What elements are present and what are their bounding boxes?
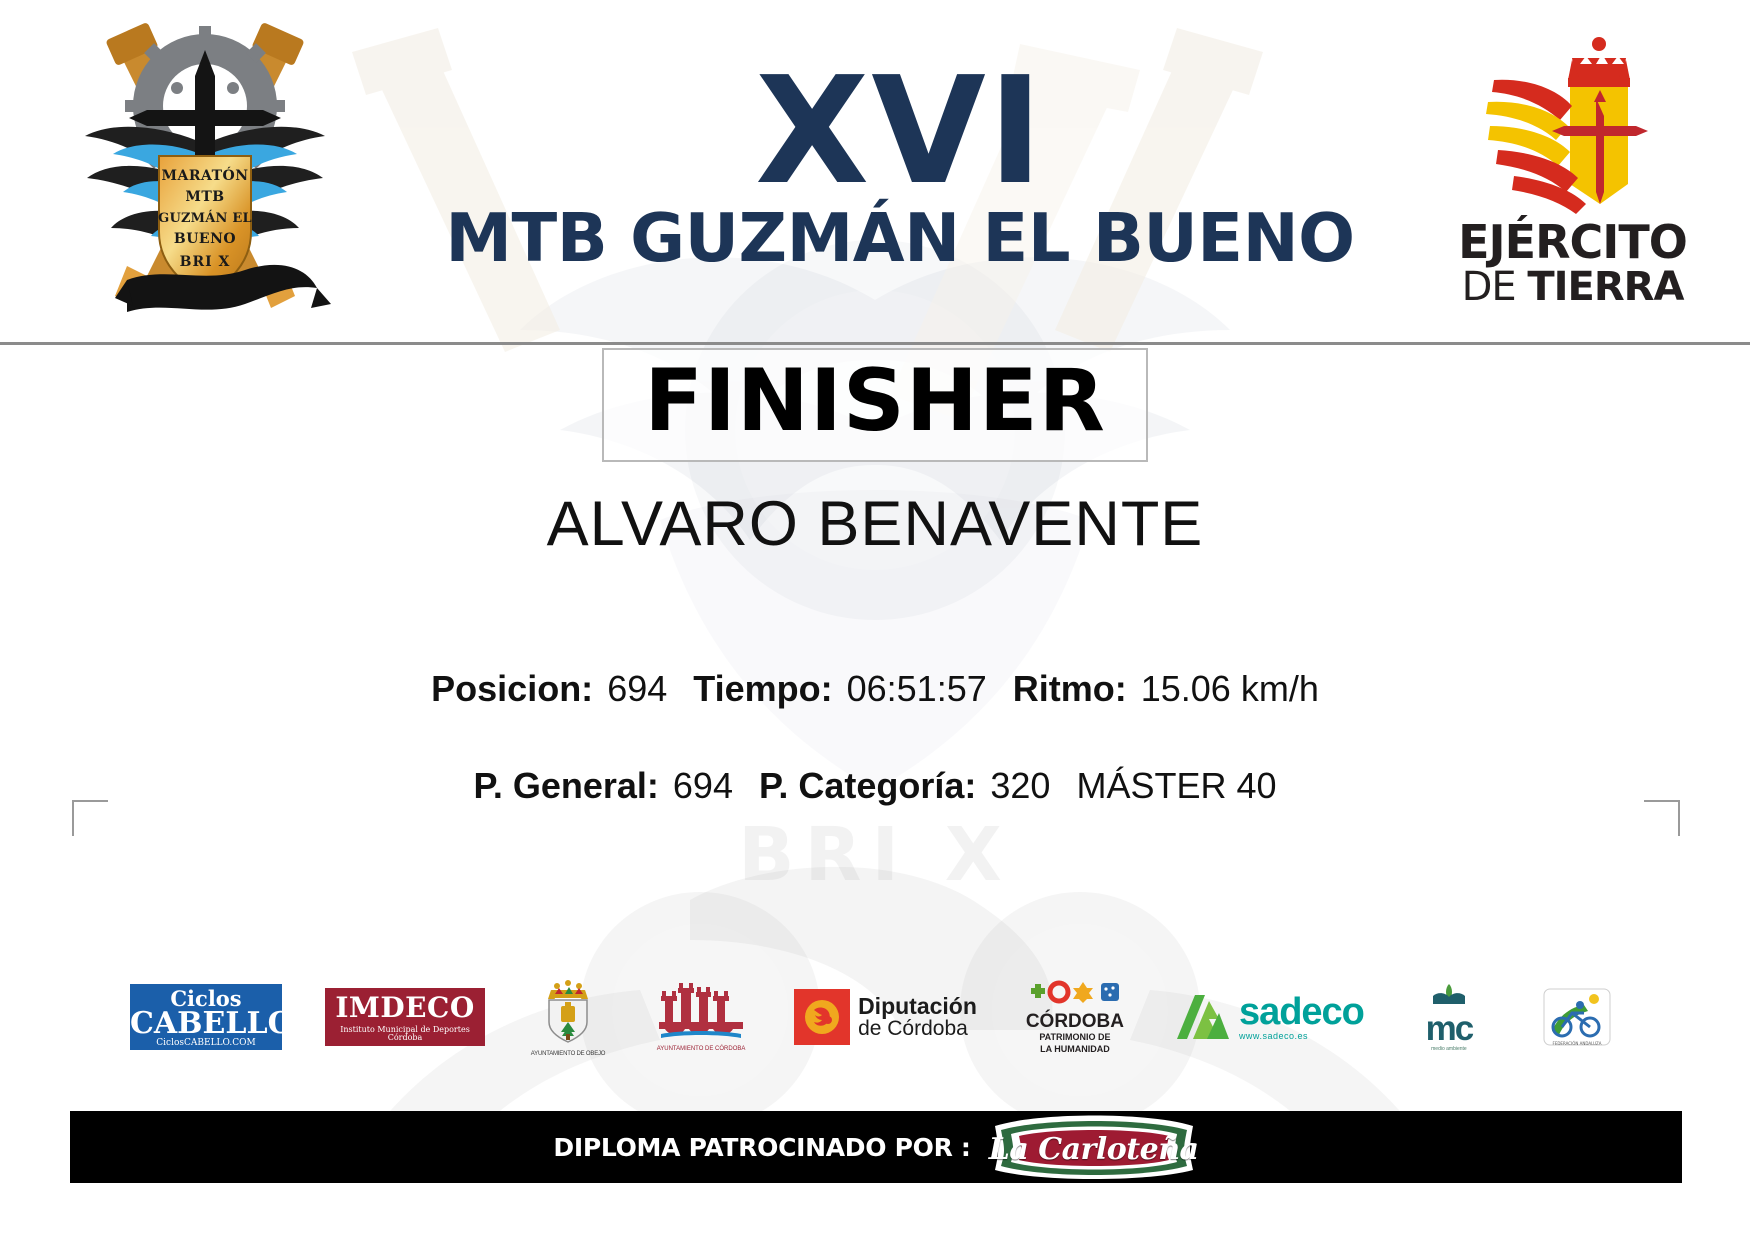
stat-value-tiempo: 06:51:57: [847, 668, 987, 709]
sponsor-mc: mc medio ambiente: [1407, 982, 1491, 1053]
cordoba-bridge-icon: [655, 982, 747, 1040]
event-edition: XVI: [355, 60, 1445, 202]
ayto-local-caption: AYUNTAMIENTO DE OBEJO: [531, 1051, 605, 1057]
diputacion-badge-icon: [794, 989, 850, 1045]
finisher-label: FINISHER: [644, 356, 1106, 446]
crop-mark-top-left: [72, 800, 108, 836]
footer-sponsor-bar: DIPLOMA PATROCINADO POR : La Carloteña: [70, 1111, 1682, 1183]
stat-value-p-categoria: 320: [990, 765, 1050, 806]
sponsor-imdeco: IMDECO Instituto Municipal de Deportes C…: [325, 988, 485, 1046]
stat-value-posicion: 694: [607, 668, 667, 709]
sadeco-mark-icon: [1173, 991, 1231, 1043]
sponsor-cordoba-patrimonio: CÓRDOBA PATRIMONIO DE LA HUMANIDAD: [1020, 980, 1130, 1054]
sponsor-ayuntamiento-cordoba: AYUNTAMIENTO DE CÓRDOBA: [651, 982, 751, 1052]
sponsor-ciclos-cabello: Ciclos CABELLO CiclosCABELLO.COM: [130, 984, 282, 1050]
stat-label-ritmo: Ritmo:: [1013, 668, 1127, 709]
ejercito-de-tierra-logo: EJÉRCITO DE TIERRA: [1445, 34, 1700, 308]
patrimonio-line1: CÓRDOBA: [1026, 1012, 1124, 1031]
event-name: MTB GUZMÁN EL BUENO: [355, 205, 1445, 272]
sponsor-ayuntamiento-local: AYUNTAMIENTO DE OBEJO: [528, 978, 608, 1057]
brix-emblem-logo: MARATÓN MTB GUZMÁN EL BUENO BRI X: [55, 16, 355, 326]
stats-row-secondary: P. General:694P. Categoría:320MÁSTER 40: [0, 765, 1750, 807]
stat-label-tiempo: Tiempo:: [693, 668, 832, 709]
patrimonio-line3: LA HUMANIDAD: [1026, 1045, 1124, 1054]
sponsor-diputacion-cordoba: Diputación de Córdoba: [794, 989, 977, 1045]
diputacion-line1: Diputación: [858, 995, 977, 1018]
stats-row-primary: Posicion:694Tiempo:06:51:57Ritmo:15.06 k…: [0, 668, 1750, 710]
diputacion-line2: de Córdoba: [858, 1018, 977, 1039]
army-de-word: DE: [1462, 264, 1528, 310]
mc-wordmark: mc: [1425, 1013, 1473, 1045]
stat-value-p-general: 694: [673, 765, 733, 806]
mc-caption: medio ambiente: [1425, 1046, 1473, 1052]
spanish-army-emblem-icon: [1468, 34, 1678, 219]
la-carlotena-wordmark: La Carloteña: [989, 1110, 1199, 1188]
finisher-box: FINISHER: [602, 348, 1148, 462]
cabello-line2: CABELLO: [130, 1009, 282, 1039]
event-title-block: XVI MTB GUZMÁN EL BUENO: [355, 60, 1445, 281]
sponsored-by-label: DIPLOMA PATROCINADO POR :: [553, 1133, 970, 1162]
patrimonio-symbols-icon: [1027, 980, 1123, 1004]
mc-leaf-icon: [1425, 982, 1473, 1008]
la-carlotena-logo: La Carloteña: [989, 1110, 1199, 1184]
patrimonio-line2: PATRIMONIO DE: [1026, 1033, 1124, 1042]
svg-text:MTB: MTB: [185, 189, 224, 205]
stat-value-categoria-name: MÁSTER 40: [1076, 765, 1276, 806]
athlete-name: ALVARO BENAVENTE: [0, 488, 1750, 560]
sponsor-sadeco: sadeco www.sadeco.es: [1173, 991, 1364, 1043]
army-name-line1: EJÉRCITO: [1445, 219, 1700, 266]
sponsor-logos-row: Ciclos CABELLO CiclosCABELLO.COM IMDECO …: [70, 962, 1680, 1072]
ayto-cordoba-caption: AYUNTAMIENTO DE CÓRDOBA: [655, 1046, 747, 1052]
diploma-page: MARATÓN MTB GUZMÁN EL BUENO BRI X XVI MT…: [0, 0, 1750, 1239]
federacion-caption: FEDERACIÓN ANDALUZA: [1552, 1041, 1601, 1046]
sadeco-name: sadeco: [1239, 993, 1364, 1031]
svg-text:BRI X: BRI X: [180, 254, 231, 270]
stat-value-ritmo: 15.06 km/h: [1141, 668, 1319, 709]
finisher-banner: FINISHER: [0, 348, 1750, 462]
army-name-line2: DE TIERRA: [1445, 266, 1700, 308]
imdeco-subtitle: Instituto Municipal de Deportes Córdoba: [325, 1026, 485, 1042]
stat-label-p-general: P. General:: [473, 765, 658, 806]
header-band: MARATÓN MTB GUZMÁN EL BUENO BRI X XVI MT…: [0, 0, 1750, 345]
stat-label-posicion: Posicion:: [431, 668, 593, 709]
svg-text:GUZMÁN EL: GUZMÁN EL: [158, 210, 252, 226]
municipal-crest-icon: [537, 978, 599, 1044]
crop-mark-top-right: [1644, 800, 1680, 836]
svg-text:MARATÓN: MARATÓN: [161, 166, 248, 184]
svg-text:BUENO: BUENO: [174, 231, 236, 247]
army-tierra-word: TIERRA: [1527, 264, 1683, 310]
cycling-federation-icon: FEDERACIÓN ANDALUZA: [1540, 985, 1614, 1049]
sponsor-federacion-andaluza-ciclismo: FEDERACIÓN ANDALUZA: [1534, 985, 1620, 1049]
imdeco-name: IMDECO: [325, 994, 485, 1022]
stat-label-p-categoria: P. Categoría:: [759, 765, 976, 806]
